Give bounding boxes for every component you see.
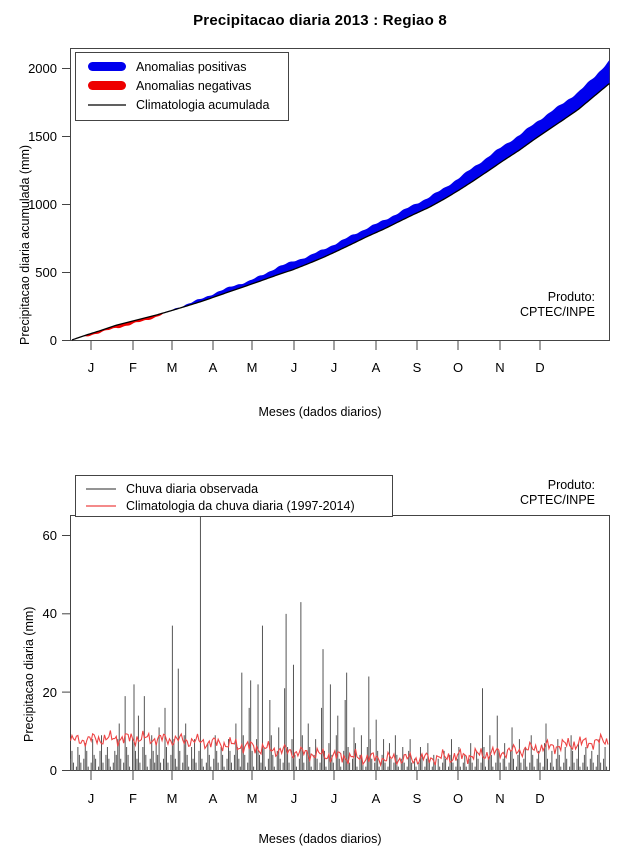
top-xtick-nov: N xyxy=(495,360,504,375)
legend-label-climatology: Climatologia acumulada xyxy=(136,98,269,112)
bottom-xtick-dec: D xyxy=(535,791,544,806)
bottom-xtick-jul: J xyxy=(331,791,338,806)
top-xtick-mar: M xyxy=(167,360,178,375)
top-xtick-may: M xyxy=(247,360,258,375)
legend-label-positive-anomaly: Anomalias positivas xyxy=(136,60,246,74)
bottom-plot-box xyxy=(71,516,610,771)
top-panel-xlabel: Meses (dados diarios) xyxy=(0,405,640,419)
bottom-xtick-jun: J xyxy=(291,791,298,806)
top-xtick-apr: A xyxy=(209,360,218,375)
top-xtick-jul: J xyxy=(331,360,338,375)
legend-swatch-positive-anomaly xyxy=(88,62,126,71)
top-y-axis: 0 500 1000 1500 2000 xyxy=(28,61,70,348)
top-panel-svg: 0 500 1000 1500 2000 xyxy=(0,0,640,395)
top-xtick-feb: F xyxy=(129,360,137,375)
top-ytick-2000: 2000 xyxy=(28,61,57,76)
top-xtick-aug: A xyxy=(372,360,381,375)
top-ytick-1000: 1000 xyxy=(28,197,57,212)
legend-label-climatology-daily: Climatologia da chuva diaria (1997-2014) xyxy=(126,499,355,513)
bottom-xtick-jan: J xyxy=(88,791,95,806)
legend-label-observed-daily: Chuva diaria observada xyxy=(126,482,258,496)
top-xtick-dec: D xyxy=(535,360,544,375)
bottom-xtick-mar: M xyxy=(167,791,178,806)
figure-root: Precipitacao diaria 2013 : Regiao 8 Prec… xyxy=(0,0,640,850)
top-xtick-oct: O xyxy=(453,360,463,375)
bottom-y-axis: 0 20 40 60 xyxy=(43,528,70,778)
bottom-xtick-aug: A xyxy=(372,791,381,806)
bottom-xtick-feb: F xyxy=(129,791,137,806)
legend-label-negative-anomaly: Anomalias negativas xyxy=(136,79,251,93)
bottom-ytick-60: 60 xyxy=(43,528,57,543)
bottom-ytick-20: 20 xyxy=(43,685,57,700)
bottom-xtick-oct: O xyxy=(453,791,463,806)
top-xtick-sep: S xyxy=(413,360,422,375)
top-ytick-500: 500 xyxy=(35,265,57,280)
top-xtick-jun: J xyxy=(291,360,298,375)
bottom-panel-svg: 0 20 40 60 J F M A xyxy=(0,455,640,855)
top-panel-legend: Anomalias positivas Anomalias negativas … xyxy=(76,53,289,121)
top-ytick-1500: 1500 xyxy=(28,129,57,144)
legend-swatch-negative-anomaly xyxy=(88,81,126,90)
bottom-xtick-apr: A xyxy=(209,791,218,806)
bottom-ytick-0: 0 xyxy=(50,763,57,778)
top-climatology-line xyxy=(72,83,610,340)
top-x-axis: J F M A M J J A S O N D xyxy=(71,341,610,376)
bottom-xtick-may: M xyxy=(247,791,258,806)
daily-observed-bars xyxy=(71,516,607,771)
bottom-xtick-nov: N xyxy=(495,791,504,806)
top-ytick-0: 0 xyxy=(50,333,57,348)
bottom-xtick-sep: S xyxy=(413,791,422,806)
bottom-panel-legend: Chuva diaria observada Climatologia da c… xyxy=(76,476,393,517)
top-xtick-jan: J xyxy=(88,360,95,375)
bottom-x-axis: J F M A M J J A S O N D xyxy=(88,771,545,806)
bottom-ytick-40: 40 xyxy=(43,606,57,621)
